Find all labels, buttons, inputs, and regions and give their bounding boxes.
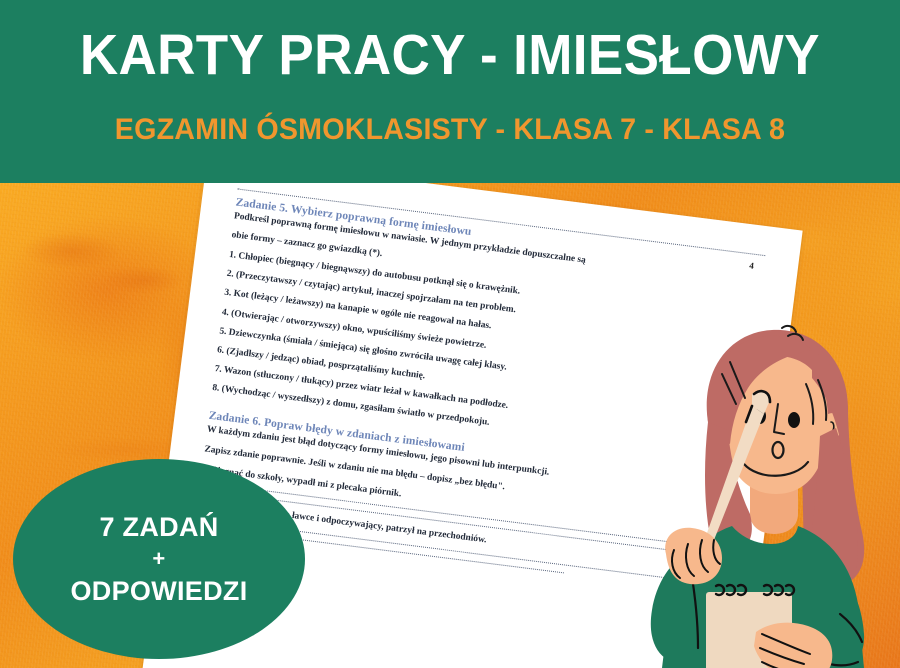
- status-badge: 7 ZADAŃ + ODPOWIEDZI: [13, 459, 305, 659]
- poster-header: KARTY PRACY - IMIESŁOWY EGZAMIN ÓSMOKLAS…: [0, 0, 900, 183]
- page-subtitle: EGZAMIN ÓSMOKLASISTY - KLASA 7 - KLASA 8: [115, 115, 785, 145]
- badge-line-plus: +: [152, 547, 165, 570]
- badge-line-answers: ODPOWIEDZI: [71, 577, 248, 605]
- poster-canvas: 4 Zadanie 5. Wybierz poprawną formę imie…: [0, 0, 900, 668]
- badge-line-tasks: 7 ZADAŃ: [99, 513, 218, 541]
- page-title: KARTY PRACY - IMIESŁOWY: [80, 26, 820, 84]
- thinking-girl-illustration: [612, 318, 900, 668]
